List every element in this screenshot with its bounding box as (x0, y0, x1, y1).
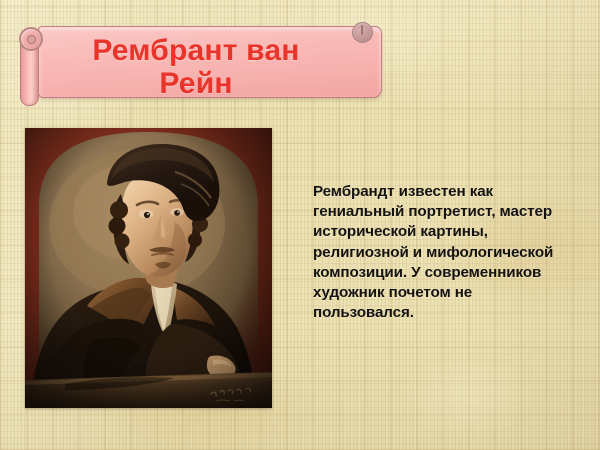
portrait-artwork (25, 128, 272, 408)
slide-canvas: Рембрант ван Рейн (0, 0, 600, 450)
page-title: Рембрант ван Рейн (16, 36, 376, 99)
title-line-2: Рейн (16, 69, 376, 100)
body-paragraph: Рембрандт известен как гениальный портре… (313, 182, 575, 324)
portrait-image (25, 128, 272, 408)
title-line-1: Рембрант ван (16, 36, 376, 67)
